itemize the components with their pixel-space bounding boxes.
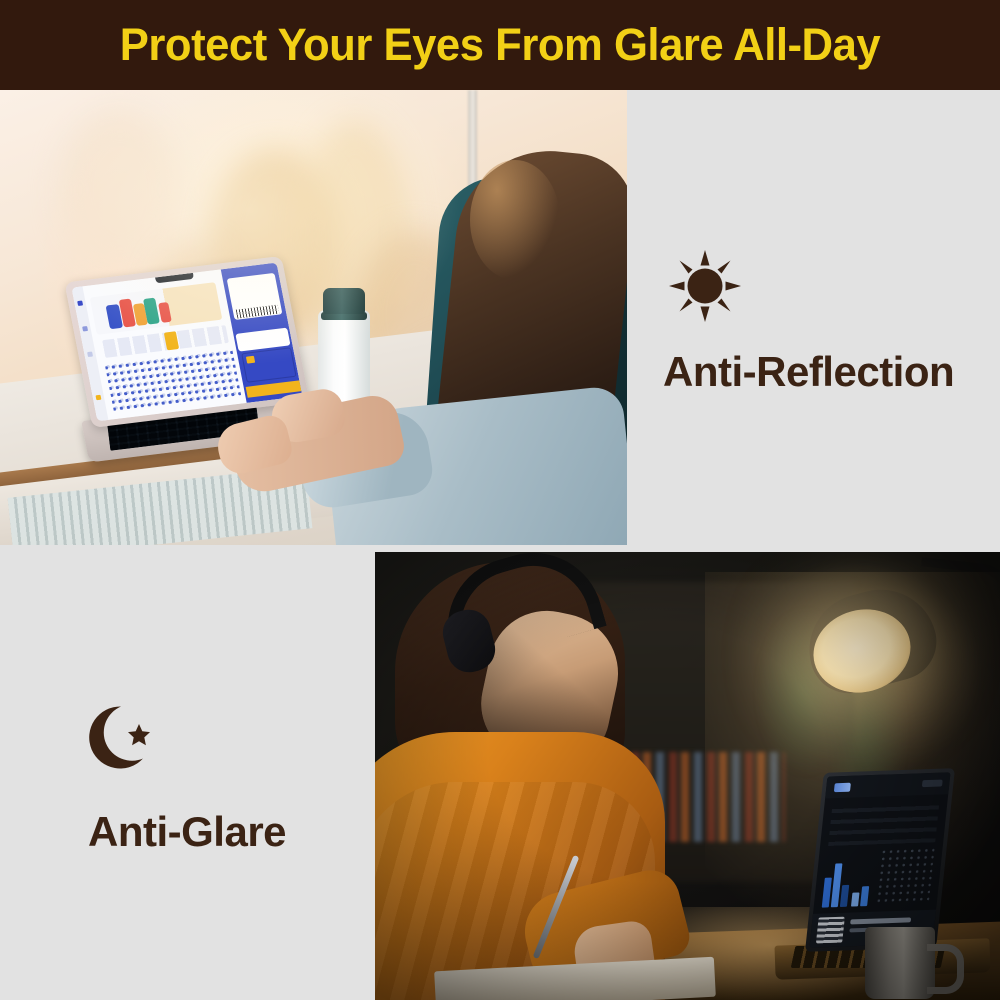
header-banner: Protect Your Eyes From Glare All-Day [0,0,1000,90]
row-separator [0,545,1000,552]
feature-anti-reflection: Anti-Reflection [627,90,1000,545]
laptop-lid [805,768,955,952]
bar [840,885,849,907]
nav-icon [82,326,88,332]
nav-icon [77,300,83,306]
feature-anti-glare: Anti-Glare [0,552,375,1000]
topbar-badge [922,780,943,788]
nav-icon [95,395,101,401]
feature-label-anti-reflection: Anti-Reflection [663,348,954,396]
feature-label-anti-glare: Anti-Glare [88,808,286,856]
daylight-photo [0,90,627,545]
person-hair-highlight [470,160,560,280]
mug-handle [927,944,964,994]
bar [860,886,869,906]
laptop-lid [64,256,309,428]
bar [851,892,860,906]
calendar-grid [876,848,934,906]
moon-star-icon [83,702,161,780]
laptop-screen [72,263,303,422]
bar-chart [822,850,876,907]
credit-card-widget [241,347,296,383]
stats-rows [828,800,939,846]
app-logo-icon [834,783,851,793]
night-photo [375,552,1000,1000]
background-blur-blob [60,110,180,270]
product-feature-graphic: Protect Your Eyes From Glare All-Day [0,0,1000,1000]
laptop-screen [809,772,950,947]
nav-icon [87,352,93,358]
bottle-cap [323,288,365,314]
media-thumbnail [816,917,845,944]
page-title: Protect Your Eyes From Glare All-Day [120,19,880,71]
sun-icon [669,250,741,322]
card-chip-icon [246,356,255,364]
coffee-mug [865,927,935,999]
